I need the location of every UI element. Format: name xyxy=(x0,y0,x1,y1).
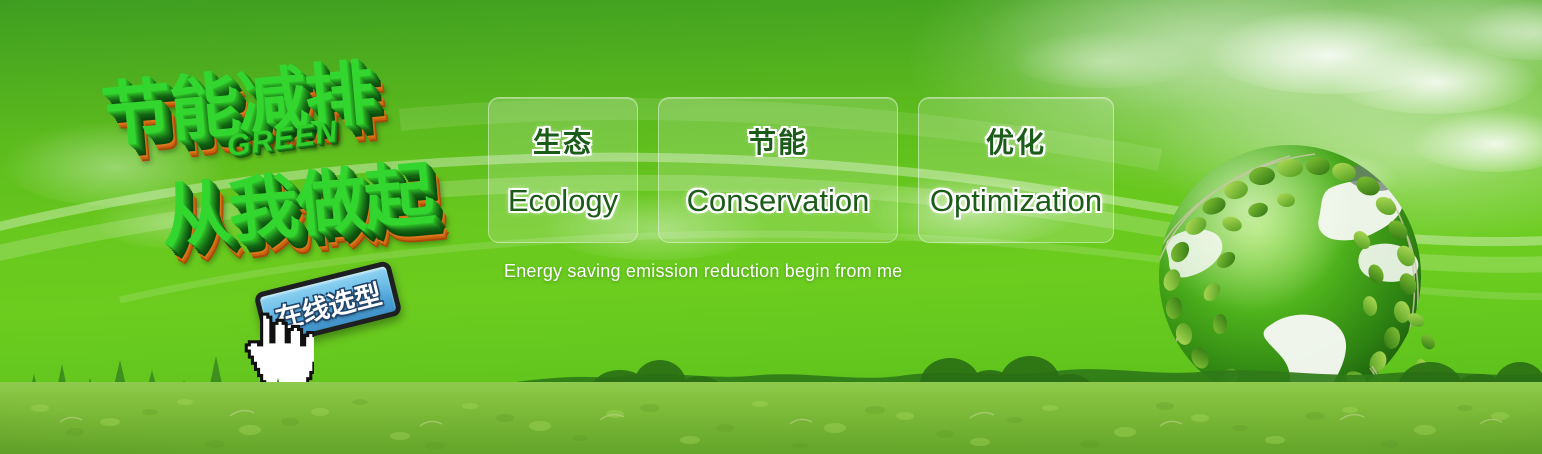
feature-card-cn-label: 优化 xyxy=(986,121,1046,161)
feature-card-en-label: Conservation xyxy=(687,183,870,219)
feature-card-en-label: Optimization xyxy=(930,183,1102,219)
banner-subtitle: Energy saving emission reduction begin f… xyxy=(504,261,902,282)
feature-card-conservation[interactable]: 节能 Conservation xyxy=(658,97,898,243)
headline-line-2: 从我做起 xyxy=(156,138,436,262)
feature-card-cn-label: 节能 xyxy=(748,121,808,161)
grass-field xyxy=(0,382,1542,454)
cloud-shape xyxy=(1460,0,1542,60)
feature-card-en-label: Ecology xyxy=(508,183,618,219)
cloud-shape xyxy=(1330,44,1540,114)
headline-3d: 节能减排 GREEN 从我做起 xyxy=(90,22,489,289)
feature-card-list: 生态 Ecology 节能 Conservation 优化 Optimizati… xyxy=(488,97,1114,243)
feature-card-cn-label: 生态 xyxy=(533,121,593,161)
feature-card-optimization[interactable]: 优化 Optimization xyxy=(918,97,1114,243)
cloud-shape xyxy=(1010,30,1200,88)
eco-banner: 节能减排 GREEN 从我做起 在线选型 生态 Ecology 节能 Conse… xyxy=(0,0,1542,454)
feature-card-ecology[interactable]: 生态 Ecology xyxy=(488,97,638,243)
cloud-shape xyxy=(1205,8,1455,94)
